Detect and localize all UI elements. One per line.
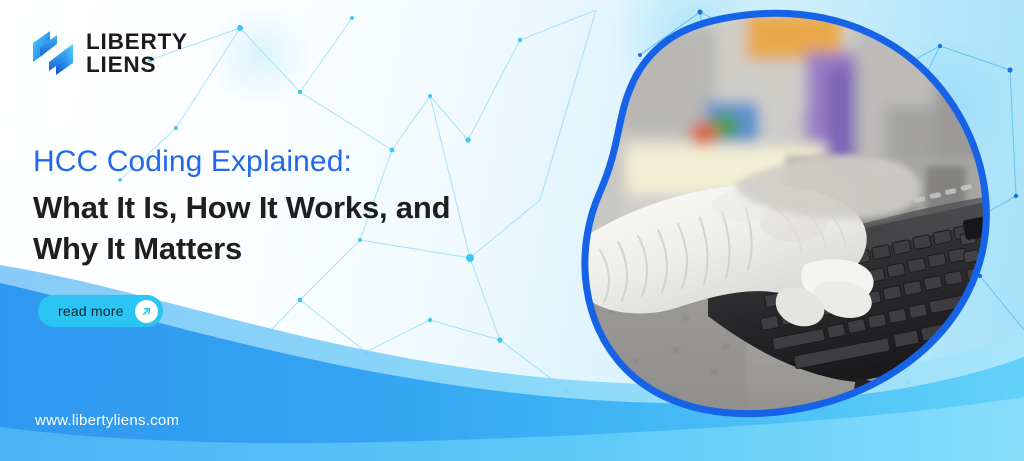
- brand-logo[interactable]: LIBERTY LIENS: [31, 30, 188, 76]
- liberty-liens-chevron-mark: [31, 30, 75, 76]
- headline-eyebrow: HCC Coding Explained:: [33, 142, 450, 181]
- arrow-up-right-icon: [135, 300, 158, 323]
- headline-line-2: Why It Matters: [33, 228, 450, 269]
- website-url[interactable]: www.libertyliens.com: [35, 412, 179, 429]
- page-title: What It Is, How It Works, and Why It Mat…: [33, 187, 450, 269]
- brand-name-line1: LIBERTY: [86, 31, 188, 53]
- read-more-label: read more: [58, 303, 124, 319]
- read-more-button[interactable]: read more: [38, 295, 163, 327]
- hero-photo-blob: [556, 6, 1024, 436]
- headline-line-1: What It Is, How It Works, and: [33, 187, 450, 228]
- promotional-banner: LIBERTY LIENS HCC Coding Explained: What…: [0, 0, 1024, 461]
- brand-name-line2: LIENS: [86, 54, 188, 76]
- headline-block: HCC Coding Explained: What It Is, How It…: [33, 142, 450, 269]
- background-glow: [200, 10, 320, 100]
- brand-wordmark: LIBERTY LIENS: [86, 31, 188, 75]
